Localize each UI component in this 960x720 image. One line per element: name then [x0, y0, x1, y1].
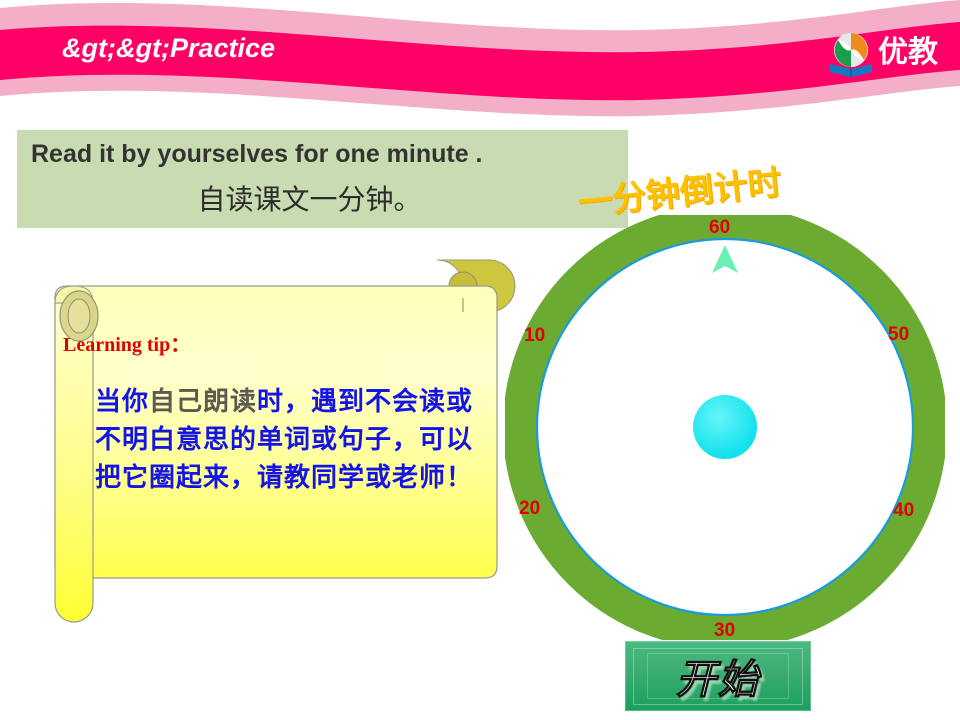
- slide-canvas: &gt;&gt;Practice 优教 Read it by yourselve…: [0, 0, 960, 720]
- tip-lead: 当你: [95, 387, 149, 417]
- start-button[interactable]: 开始: [625, 641, 811, 711]
- clock-tick-40: 40: [893, 500, 914, 522]
- clock-tick-20: 20: [519, 498, 540, 520]
- learning-tip-label: Learning tip：: [63, 328, 190, 357]
- start-button-label: 开始: [625, 641, 811, 711]
- yujiao-circle-book-logo-icon: [826, 30, 876, 78]
- brand-logo-text: 优教: [878, 34, 938, 72]
- clock-dial: [505, 215, 945, 640]
- instruction-chinese: 自读课文一分钟。: [17, 178, 602, 218]
- learning-tip-text: 当你自己朗读时，遇到不会读或不明白意思的单词或句子，可以把它圈起来，请教同学或老…: [95, 383, 495, 497]
- instruction-english: Read it by yourselves for one minute .: [31, 140, 621, 169]
- clock-tick-50: 50: [888, 324, 909, 346]
- instruction-box: Read it by yourselves for one minute . 自…: [17, 130, 628, 228]
- countdown-clock: [505, 215, 945, 640]
- header-banner: &gt;&gt;Practice 优教: [0, 0, 960, 118]
- clock-tick-30: 30: [714, 620, 735, 642]
- brand-logo[interactable]: 优教: [826, 30, 948, 80]
- learning-tip-scroll: Learning tip： 当你自己朗读时，遇到不会读或不明白意思的单词或句子，…: [33, 258, 528, 648]
- clock-tick-60: 60: [709, 217, 730, 239]
- clock-tick-10: 10: [524, 325, 545, 347]
- tip-muted: 自己朗读: [149, 387, 257, 417]
- banner-title: &gt;&gt;Practice: [62, 33, 275, 64]
